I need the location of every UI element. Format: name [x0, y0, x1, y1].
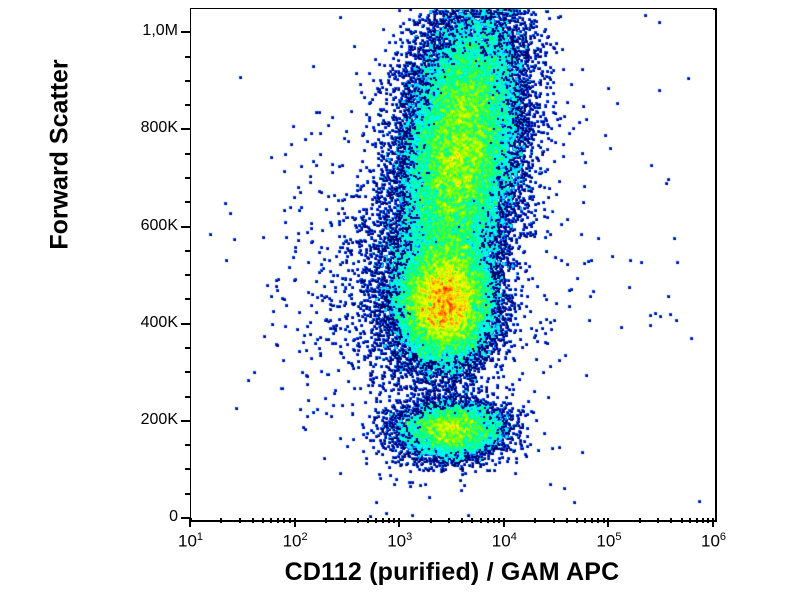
x-tick-minor — [584, 518, 586, 523]
x-tick-label: 106 — [701, 531, 726, 552]
y-tick-label: 0 — [169, 508, 178, 526]
x-tick-minor — [702, 518, 704, 523]
x-tick-major — [712, 518, 714, 527]
x-tick-major — [607, 518, 609, 527]
x-tick-minor — [591, 518, 593, 523]
x-tick-minor — [603, 518, 605, 523]
x-tick-major — [398, 518, 400, 527]
flow-cytometry-plot: Forward Scatter 0200K400K600K800K1,0M 10… — [0, 0, 800, 600]
y-tick-label: 600K — [141, 217, 178, 235]
y-tick-label: 800K — [141, 119, 178, 137]
x-tick-minor — [448, 518, 450, 523]
scatter-plot-area — [191, 9, 713, 518]
x-tick-label: 101 — [178, 531, 203, 552]
x-tick-major — [189, 518, 191, 527]
y-tick-major — [181, 323, 190, 325]
y-tick-major — [181, 31, 190, 33]
x-tick-minor — [220, 518, 222, 523]
density-scatter-canvas — [191, 9, 713, 518]
x-tick-minor — [553, 518, 555, 523]
x-tick-minor — [657, 518, 659, 523]
y-tick-label: 200K — [141, 411, 178, 429]
x-tick-minor — [252, 518, 254, 523]
x-tick-minor — [283, 518, 285, 523]
x-tick-minor — [566, 518, 568, 523]
x-tick-minor — [681, 518, 683, 523]
x-tick-minor — [670, 518, 672, 523]
x-tick-minor — [576, 518, 578, 523]
x-tick-minor — [277, 518, 279, 523]
x-tick-minor — [471, 518, 473, 523]
x-tick-minor — [262, 518, 264, 523]
x-tick-minor — [289, 518, 291, 523]
y-tick-label: 1,0M — [142, 22, 178, 40]
y-tick-major — [181, 128, 190, 130]
x-axis-title: CD112 (purified) / GAM APC — [190, 558, 714, 587]
x-tick-label: 104 — [492, 531, 517, 552]
x-tick-minor — [498, 518, 500, 523]
x-tick-minor — [239, 518, 241, 523]
x-tick-minor — [689, 518, 691, 523]
x-tick-minor — [375, 518, 377, 523]
x-tick-major — [503, 518, 505, 527]
x-tick-minor — [325, 518, 327, 523]
x-tick-minor — [480, 518, 482, 523]
x-tick-minor — [597, 518, 599, 523]
y-tick-major — [181, 226, 190, 228]
x-tick-minor — [430, 518, 432, 523]
y-tick-label: 400K — [141, 314, 178, 332]
x-tick-minor — [487, 518, 489, 523]
x-tick-minor — [534, 518, 536, 523]
x-tick-minor — [357, 518, 359, 523]
x-tick-minor — [270, 518, 272, 523]
x-tick-label: 102 — [283, 531, 308, 552]
x-tick-minor — [461, 518, 463, 523]
x-tick-major — [294, 518, 296, 527]
x-tick-minor — [696, 518, 698, 523]
x-tick-minor — [388, 518, 390, 523]
x-tick-label: 103 — [387, 531, 412, 552]
x-tick-minor — [367, 518, 369, 523]
y-tick-major — [181, 420, 190, 422]
x-tick-minor — [639, 518, 641, 523]
x-tick-minor — [393, 518, 395, 523]
x-tick-minor — [493, 518, 495, 523]
x-tick-minor — [344, 518, 346, 523]
x-tick-label: 105 — [596, 531, 621, 552]
y-axis-title: Forward Scatter — [46, 35, 75, 275]
x-tick-minor — [382, 518, 384, 523]
x-tick-minor — [707, 518, 709, 523]
